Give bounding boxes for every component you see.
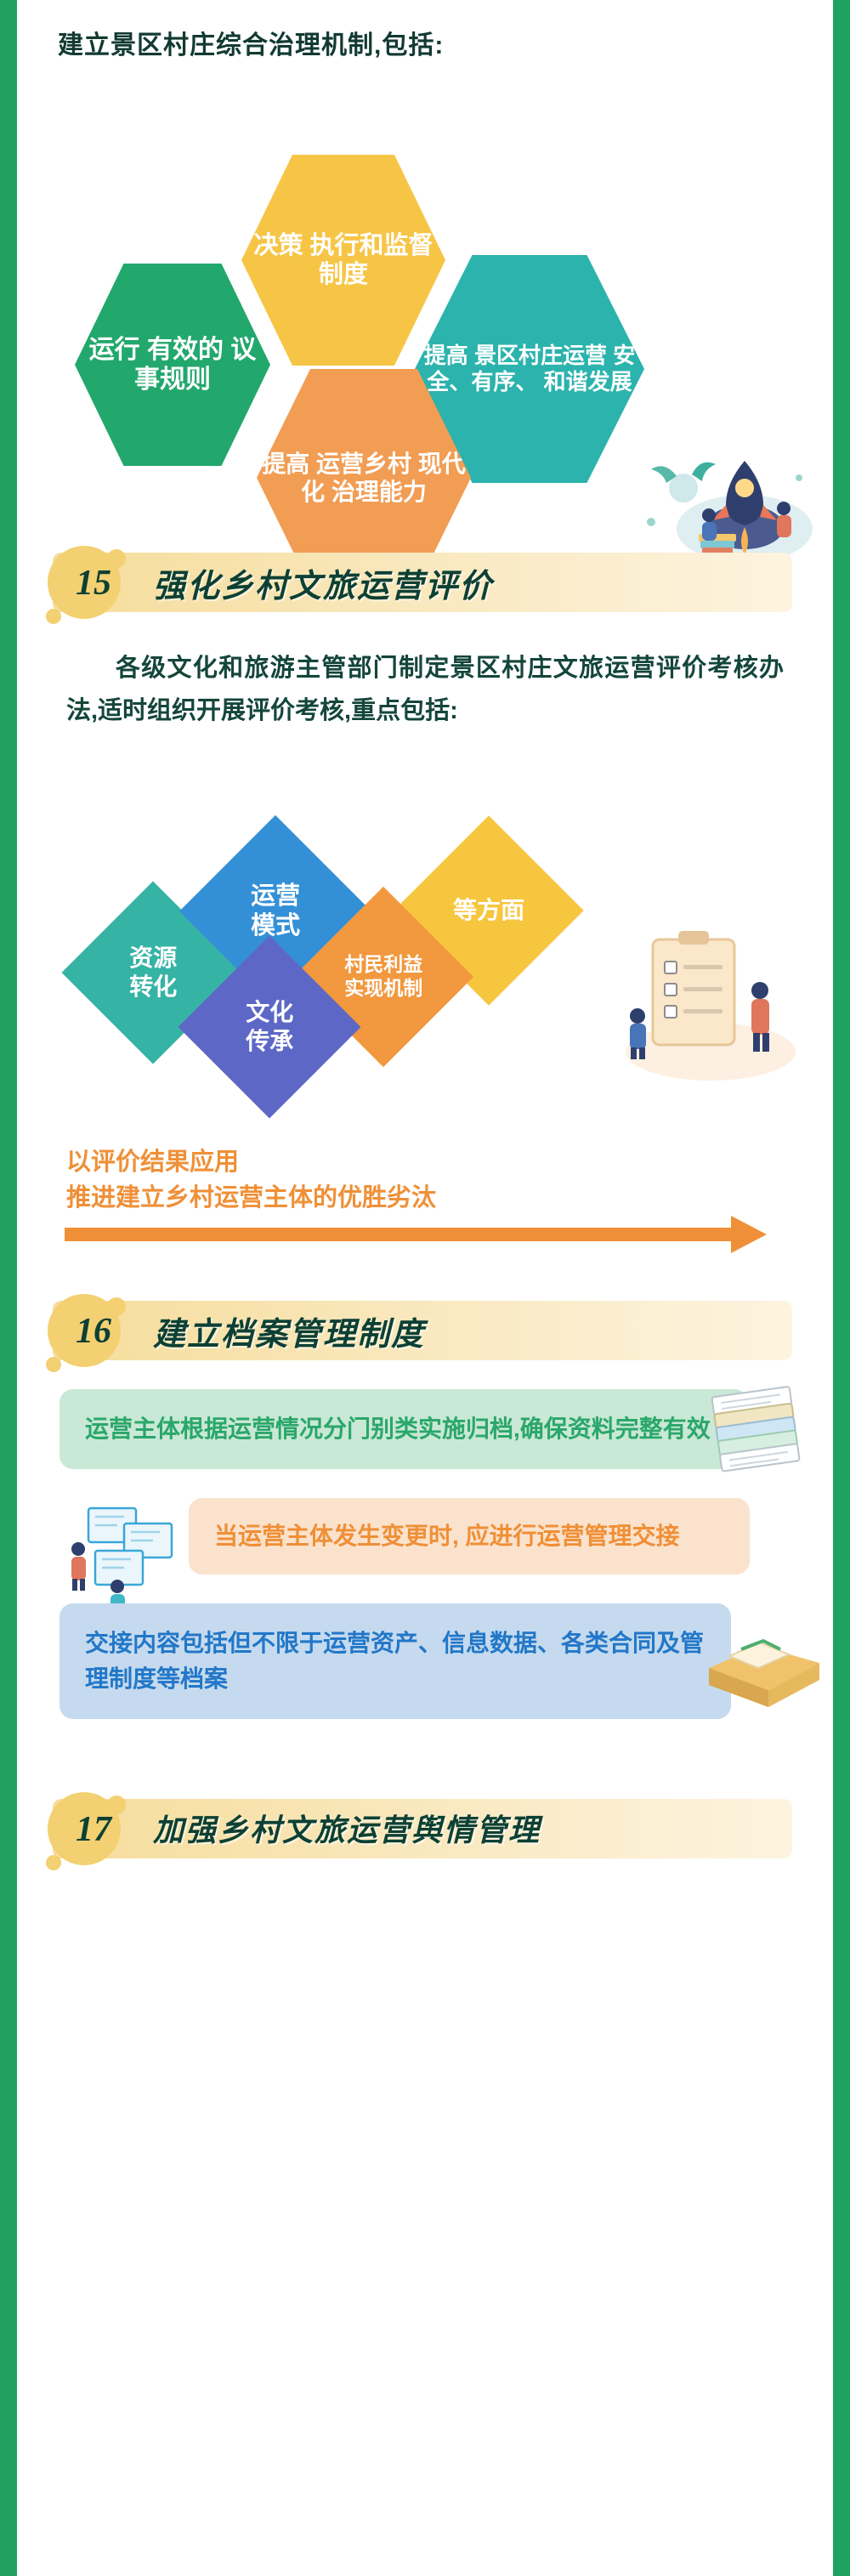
- intro-lead-title: 建立景区村庄综合治理机制,包括:: [22, 0, 828, 61]
- section-15-header: 15 强化乡村文旅运营评价: [53, 546, 792, 619]
- section-16-header: 16 建立档案管理制度: [53, 1294, 792, 1367]
- section-17-header: 17 加强乡村文旅运营舆情管理: [53, 1792, 792, 1865]
- section-16-card-row-2: 当运营主体发生变更时, 应进行运营管理交接: [22, 1498, 828, 1575]
- section-15-arrow-banner: 以评价结果应用 推进建立乡村运营主体的优胜劣汰: [59, 1144, 807, 1255]
- open-box-illustration: [692, 1609, 836, 1719]
- diamond-label: 村民利益 实现机制: [344, 953, 422, 1000]
- card-handover: 当运营主体发生变更时, 应进行运营管理交接: [189, 1498, 750, 1575]
- right-rail-gap: [828, 0, 833, 2576]
- hexagon-label: 运行 有效的 议事规则: [80, 335, 265, 395]
- hexagon-label: 提高 运营乡村 现代化 治理能力: [262, 450, 466, 506]
- section-15-number: 15: [68, 563, 119, 604]
- diamond-label: 文化 传承: [246, 998, 293, 1055]
- card-handover-contents: 交接内容包括但不限于运营资产、信息数据、各类合同及管理制度等档案: [59, 1603, 731, 1719]
- section-17-number: 17: [68, 1809, 119, 1850]
- section-15-title: 强化乡村文旅运营评价: [153, 559, 493, 606]
- section-16-title: 建立档案管理制度: [153, 1308, 425, 1354]
- hexagon-decision-system: 决策 执行和监督 制度: [241, 155, 445, 366]
- right-green-rail: [833, 0, 850, 2576]
- diamond-label: 等方面: [453, 896, 524, 925]
- hexagon-operating-rules: 运行 有效的 议事规则: [75, 264, 270, 466]
- documents-stack-illustration: [697, 1379, 824, 1489]
- diamond-label: 资源 转化: [129, 944, 177, 1001]
- arrow-banner-line2: 推进建立乡村运营主体的优胜劣汰: [66, 1180, 436, 1216]
- arrow-head-icon: [731, 1216, 767, 1253]
- diamond-label: 运营 模式: [251, 882, 300, 941]
- arrow-banner-line1: 以评价结果应用: [66, 1144, 436, 1180]
- screens-people-illustration: [65, 1498, 192, 1617]
- arrow-shaft: [65, 1228, 736, 1241]
- section-17-title: 加强乡村文旅运营舆情管理: [153, 1806, 541, 1850]
- hexagon-label: 提高 景区村庄运营 安全、有序、 和谐发展: [420, 343, 639, 394]
- left-green-rail: [0, 0, 17, 2576]
- clipboard-people-illustration: [609, 924, 804, 1086]
- governance-hexagon-diagram: 运行 有效的 议事规则 决策 执行和监督 制度 提高 景区村庄运营 安全、有序、…: [22, 70, 828, 546]
- arrow-banner-text: 以评价结果应用 推进建立乡村运营主体的优胜劣汰: [66, 1144, 436, 1216]
- hexagon-label: 决策 执行和监督 制度: [246, 231, 440, 289]
- evaluation-diamond-diagram: 资源 转化 运营 模式 等方面 村民利益 实现机制 文化 传承: [22, 750, 828, 1115]
- section-16-card-row-1: 运营主体根据运营情况分门别类实施归档,确保资料完整有效: [22, 1389, 828, 1469]
- card-archiving: 运营主体根据运营情况分门别类实施归档,确保资料完整有效: [59, 1389, 748, 1469]
- section-16-number: 16: [68, 1311, 119, 1352]
- section-15-paragraph: 各级文化和旅游主管部门制定景区村庄文旅运营评价考核办法,适时组织开展评价考核,重…: [66, 648, 784, 733]
- section-16-card-row-3: 交接内容包括但不限于运营资产、信息数据、各类合同及管理制度等档案: [22, 1603, 828, 1719]
- infographic-page: 建立景区村庄综合治理机制,包括: 运行 有效的 议事规则 决策 执行和监督 制度…: [0, 0, 850, 2576]
- content-column: 建立景区村庄综合治理机制,包括: 运行 有效的 议事规则 决策 执行和监督 制度…: [22, 0, 828, 2576]
